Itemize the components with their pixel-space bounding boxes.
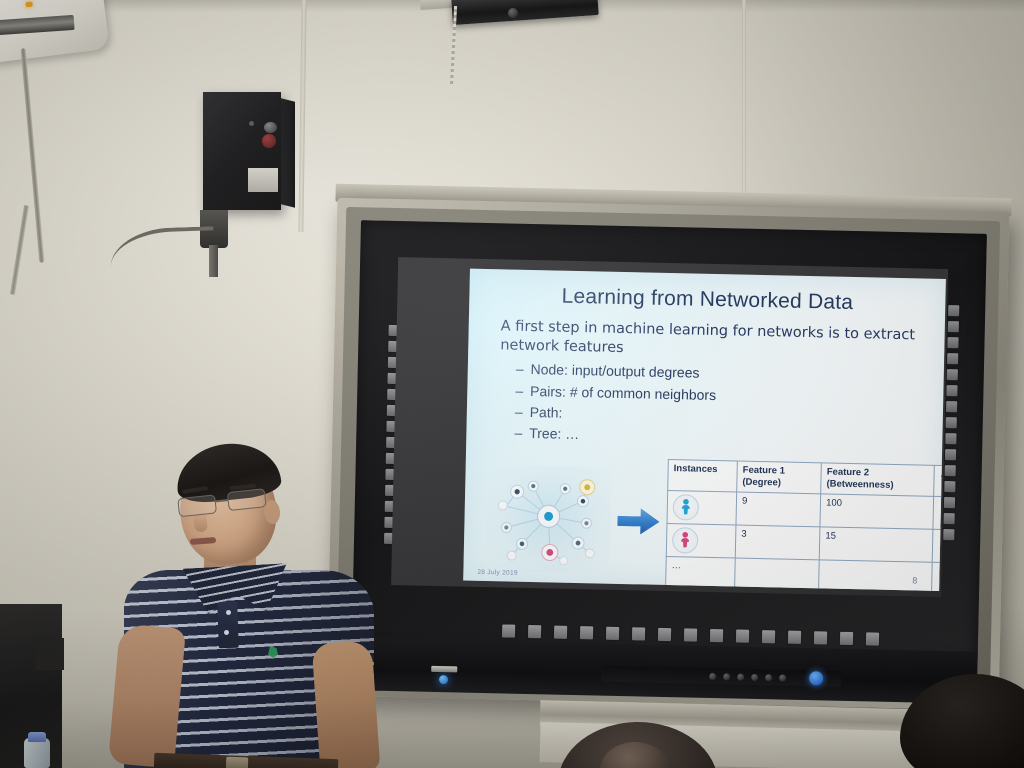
bezel-exit-icon[interactable]	[866, 632, 879, 645]
bullet-dash-icon: –	[515, 401, 523, 422]
bezel-highlighter-icon[interactable]	[606, 627, 619, 640]
bullet-text: Tree: …	[529, 423, 579, 445]
instance-cell	[666, 523, 736, 557]
bezel-annotate-icon[interactable]	[554, 626, 567, 639]
bullet-dash-icon: –	[515, 380, 523, 401]
bezel-volume-up-icon[interactable]	[947, 353, 958, 364]
table-header-feature-2: Feature 2 (Betweenness)	[821, 463, 935, 496]
person-pink-icon	[672, 527, 699, 554]
feature2-cell: 100	[820, 494, 934, 529]
control-port-strip[interactable]	[601, 666, 841, 687]
bezel-menu-icon[interactable]	[946, 385, 957, 396]
wall-box-side	[281, 98, 295, 207]
bullet-dash-icon: –	[514, 423, 522, 444]
presenter-arm-right	[312, 640, 381, 768]
person-glyph-blue	[679, 499, 693, 516]
table-header-feature-1: Feature 1 (Degree)	[737, 461, 822, 494]
bezel-channel-down-icon[interactable]	[946, 417, 957, 428]
shirt-placket	[217, 602, 239, 649]
bezel-vga-icon[interactable]	[947, 337, 958, 348]
bezel-channel-up-icon[interactable]	[946, 401, 957, 412]
feature-table: Instances Feature 1 (Degree) Feature 2 (…	[665, 459, 946, 591]
bezel-source-icon[interactable]	[948, 305, 959, 316]
indicator-red-icon	[262, 134, 276, 148]
bezel-close-icon[interactable]	[944, 513, 955, 524]
vga-port-icon[interactable]	[765, 674, 772, 681]
bezel-info-icon[interactable]	[943, 529, 954, 540]
sensor-knob-icon	[264, 122, 277, 133]
bezel-text-icon[interactable]	[684, 628, 697, 641]
bottle-cap	[28, 732, 46, 742]
presenter-nose	[193, 511, 208, 532]
bezel-home-icon[interactable]	[502, 624, 515, 637]
slide-page-number: 8	[912, 575, 917, 585]
bezel-image-icon[interactable]	[710, 629, 723, 642]
feature2-cell: 15	[819, 527, 933, 562]
bezel-blank-icon[interactable]	[944, 481, 955, 492]
bezel-contrast-icon[interactable]	[945, 449, 956, 460]
right-arrow-svg	[616, 506, 661, 537]
bezel-spotlight-icon[interactable]	[814, 631, 827, 644]
audio-port-icon[interactable]	[737, 673, 744, 680]
lan-port-icon[interactable]	[779, 674, 786, 681]
bezel-hdmi-icon[interactable]	[948, 321, 959, 332]
lecture-room-photo: Learning from Networked Data A first ste…	[0, 0, 1024, 768]
bezel-grid-icon[interactable]	[840, 632, 853, 645]
network-graph-svg	[485, 465, 611, 574]
header-line-1: Instances	[674, 463, 732, 476]
slide-lead-paragraph: A first step in machine learning for net…	[500, 317, 921, 364]
bezel-shapes-icon[interactable]	[658, 628, 671, 641]
bezel-eraser-bottom-icon[interactable]	[632, 627, 645, 640]
slide-footer-date: 28 July 2019	[477, 569, 518, 577]
right-arrow-icon	[616, 506, 661, 537]
slide-title: Learning from Networked Data	[483, 283, 931, 317]
water-bottle	[24, 738, 50, 768]
hdmi-port-icon[interactable]	[751, 673, 758, 680]
person-glyph-pink	[678, 531, 692, 548]
air-conditioner-vent	[0, 15, 75, 36]
power-led-icon	[439, 675, 448, 684]
power-button[interactable]	[809, 671, 823, 685]
bezel-pen-bottom-icon[interactable]	[580, 626, 593, 639]
interactive-whiteboard[interactable]: Learning from Networked Data A first ste…	[327, 198, 1010, 711]
bullet-dash-icon: –	[516, 359, 524, 380]
bezel-volume-down-icon[interactable]	[947, 369, 958, 380]
glasses-lens-right	[227, 488, 267, 511]
display-screen[interactable]: Learning from Networked Data A first ste…	[391, 257, 948, 597]
table-row: …	[666, 556, 946, 591]
slide-bullet-list: – Node: input/output degrees – Pairs: # …	[514, 359, 930, 453]
control-slot	[431, 666, 457, 673]
bezel-line-icon[interactable]	[736, 630, 749, 643]
instance-cell	[667, 490, 737, 524]
board-bezel: Learning from Networked Data A first ste…	[352, 220, 987, 664]
sensor-dot-icon	[249, 121, 254, 126]
usb-port-icon[interactable]	[723, 673, 730, 680]
bezel-folder-icon[interactable]	[788, 631, 801, 644]
instance-cell: …	[666, 556, 736, 587]
usb-port-icon[interactable]	[709, 672, 716, 679]
header-line-2: (Betweenness)	[826, 478, 928, 492]
wall-box-label	[248, 168, 278, 192]
presenter	[118, 438, 388, 768]
belt-buckle-icon	[226, 757, 249, 768]
etc-cell	[932, 562, 946, 591]
presenter-arm-left	[108, 623, 186, 768]
feature1-cell: 3	[735, 525, 820, 560]
bezel-whiteboard-icon[interactable]	[528, 625, 541, 638]
wall-mounted-camera-box	[203, 92, 281, 210]
bezel-brightness-icon[interactable]	[945, 433, 956, 444]
shirt-button	[226, 610, 231, 615]
podium-step	[36, 638, 64, 670]
network-graph-illustration	[485, 465, 611, 574]
air-conditioner-led-icon	[25, 2, 33, 8]
feature1-cell	[735, 558, 820, 590]
shirt-button	[224, 630, 229, 635]
person-blue-icon	[673, 494, 700, 521]
bezel-file-icon[interactable]	[762, 630, 775, 643]
table-header-instances: Instances	[668, 460, 738, 492]
header-line-2: (Degree)	[742, 477, 815, 490]
presentation-slide: Learning from Networked Data A first ste…	[463, 269, 946, 591]
feature1-cell: 9	[736, 492, 821, 527]
bezel-freeze-icon[interactable]	[945, 465, 956, 476]
bullet-text: Path:	[529, 402, 562, 424]
bezel-mute-icon[interactable]	[944, 497, 955, 508]
